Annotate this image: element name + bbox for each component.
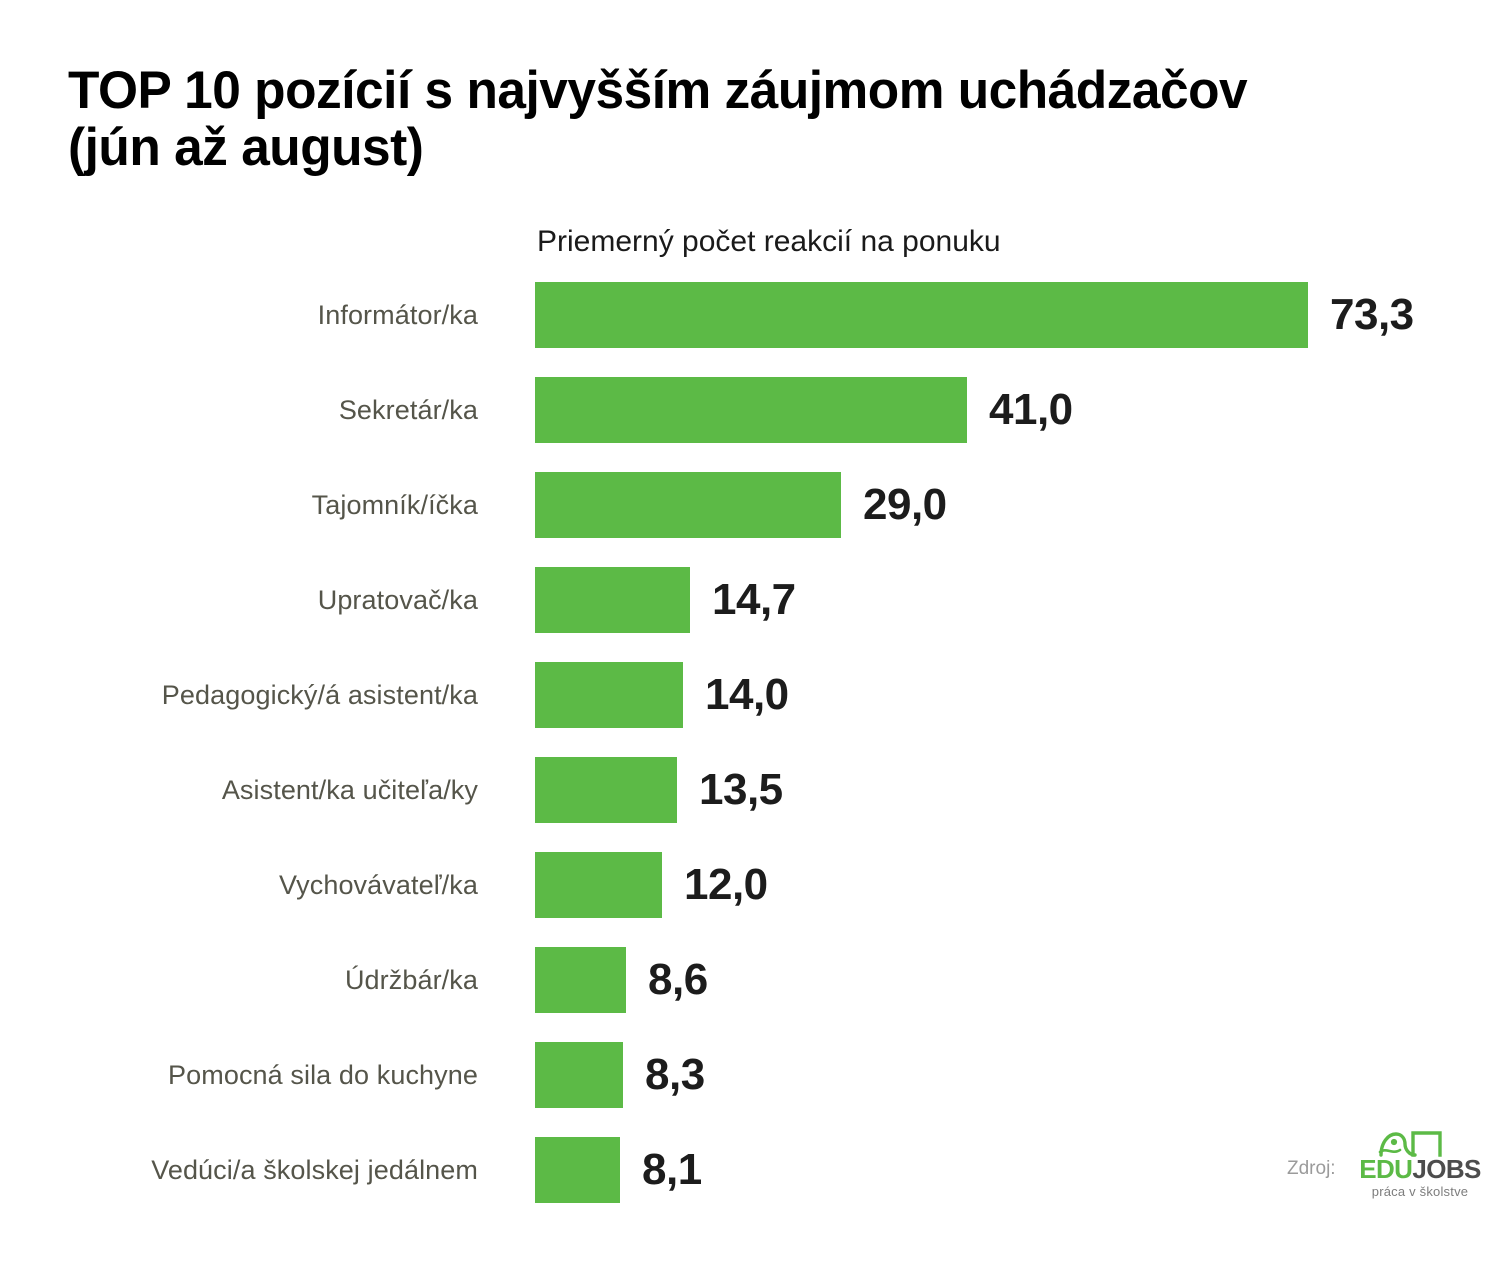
logo-tagline: práca v školstve — [1355, 1184, 1485, 1199]
chart-row: Asistent/ka učiteľa/ky13,5 — [0, 757, 1500, 823]
category-label: Informátor/ka — [318, 282, 478, 348]
bar — [535, 1042, 623, 1108]
chart-canvas: TOP 10 pozícií s najvyšším záujmom uchád… — [0, 0, 1500, 1271]
bar — [535, 567, 690, 633]
chart-row: Tajomník/íčka29,0 — [0, 472, 1500, 538]
bar-chart-plot-area: Informátor/ka73,3Sekretár/ka41,0Tajomník… — [0, 282, 1500, 1192]
bar — [535, 947, 626, 1013]
bar-value-label: 8,3 — [645, 1042, 705, 1108]
category-label: Asistent/ka učiteľa/ky — [222, 757, 478, 823]
bar-value-label: 8,6 — [648, 947, 708, 1013]
bar-value-label: 14,0 — [705, 662, 789, 728]
logo-text-jobs: JOBS — [1412, 1154, 1480, 1184]
logo-text-edu: EDU — [1359, 1154, 1412, 1184]
chart-row: Sekretár/ka41,0 — [0, 377, 1500, 443]
source-label: Zdroj: — [1287, 1158, 1336, 1180]
chart-row: Údržbár/ka8,6 — [0, 947, 1500, 1013]
bar-value-label: 73,3 — [1330, 282, 1414, 348]
title-line-1: TOP 10 pozícií s najvyšším záujmom uchád… — [68, 62, 1426, 119]
edujobs-logo[interactable]: EDUJOBS práca v školstve — [1355, 1128, 1485, 1204]
category-label: Pomocná sila do kuchyne — [168, 1042, 478, 1108]
bar-value-label: 12,0 — [684, 852, 768, 918]
category-label: Vychovávateľ/ka — [279, 852, 478, 918]
category-label: Údržbár/ka — [345, 947, 478, 1013]
category-label: Upratovač/ka — [318, 567, 478, 633]
chart-row: Vedúci/a školskej jedálnem8,1 — [0, 1137, 1500, 1203]
edujobs-wordmark: EDUJOBS — [1355, 1155, 1485, 1183]
chart-row: Pedagogický/á asistent/ka14,0 — [0, 662, 1500, 728]
chart-row: Upratovač/ka14,7 — [0, 567, 1500, 633]
bar-value-label: 41,0 — [989, 377, 1073, 443]
page-title: TOP 10 pozícií s najvyšším záujmom uchád… — [68, 62, 1468, 176]
bar — [535, 662, 683, 728]
bar — [535, 757, 677, 823]
bar — [535, 852, 662, 918]
category-label: Vedúci/a školskej jedálnem — [151, 1137, 478, 1203]
category-label: Tajomník/íčka — [312, 472, 478, 538]
bar-value-label: 8,1 — [642, 1137, 702, 1203]
bar-value-label: 14,7 — [712, 567, 796, 633]
category-label: Sekretár/ka — [339, 377, 478, 443]
bar-value-label: 13,5 — [699, 757, 783, 823]
source-attribution: Zdroj: EDUJOBS práca v školstve — [1287, 1128, 1487, 1208]
bar-value-label: 29,0 — [863, 472, 947, 538]
chart-subtitle: Priemerný počet reakcií na ponuku — [537, 224, 1001, 260]
chart-row: Informátor/ka73,3 — [0, 282, 1500, 348]
bar — [535, 472, 841, 538]
chart-row: Vychovávateľ/ka12,0 — [0, 852, 1500, 918]
bar — [535, 1137, 620, 1203]
bar — [535, 282, 1308, 348]
title-line-2: (jún až august) — [68, 119, 1426, 176]
category-label: Pedagogický/á asistent/ka — [162, 662, 478, 728]
bar — [535, 377, 967, 443]
chart-row: Pomocná sila do kuchyne8,3 — [0, 1042, 1500, 1108]
